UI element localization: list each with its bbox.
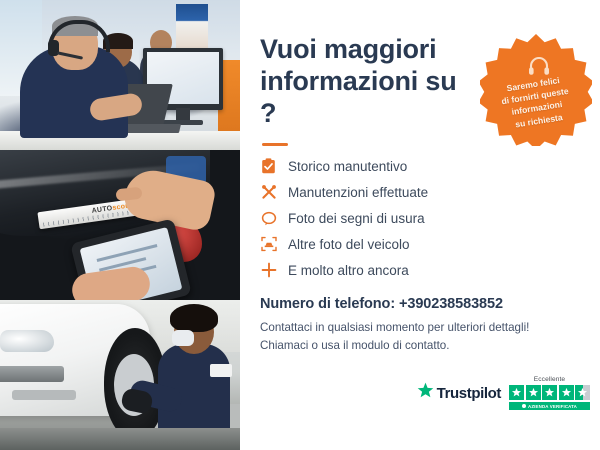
lower-bumper-vent xyxy=(12,390,76,400)
contact-line-2: Chiamaci o usa il modulo di contatto. xyxy=(260,337,578,355)
verified-company-badge: AZIENDA VERIFICATA xyxy=(509,402,590,410)
list-item-manutenzioni-effettuate: Manutenzioni effettuate xyxy=(260,184,578,201)
phone-number[interactable]: +390238583852 xyxy=(399,296,503,312)
front-grille xyxy=(0,366,64,382)
star-half-5 xyxy=(575,385,590,400)
vehicle-lift-platform xyxy=(0,428,240,450)
trustpilot-star-icon xyxy=(417,382,434,404)
star-rating xyxy=(509,385,590,400)
phone-label: Numero di telefono: xyxy=(260,296,395,312)
verified-check-icon xyxy=(522,404,526,408)
support-promise-badge: Saremo felici di fornirti queste informa… xyxy=(480,34,592,146)
contact-instructions: Contattaci in qualsiasi momento per ulte… xyxy=(260,319,578,355)
list-item-altre-foto-veicolo: Altre foto del veicolo xyxy=(260,236,578,253)
phone-number-line: Numero di telefono: +390238583852 xyxy=(260,296,578,312)
mechanic-hair xyxy=(170,304,218,332)
headline-line-2: informazioni su ? xyxy=(260,66,457,128)
list-item-storico-manutentivo: Storico manutentivo xyxy=(260,158,578,175)
list-item-label: Manutenzioni effettuate xyxy=(288,185,428,200)
trustpilot-wordmark: Trustpilot xyxy=(437,385,501,402)
list-item-label: Storico manutentivo xyxy=(288,159,407,174)
page-title: Vuoi maggiori informazioni su ? xyxy=(260,34,475,130)
feature-list: Storico manutentivo Manutenzioni effettu… xyxy=(260,158,578,279)
clipboard-check-icon xyxy=(260,158,277,175)
verified-label: AZIENDA VERIFICATA xyxy=(528,404,577,409)
star-filled-2 xyxy=(526,385,541,400)
trustpilot-logo: Trustpilot xyxy=(417,382,501,404)
photo-call-center-agents-with-headsets xyxy=(0,0,240,150)
tablet-text-line xyxy=(97,244,158,262)
face-mask xyxy=(172,330,194,346)
tools-cross-icon xyxy=(260,184,277,201)
list-item-label: E molto altro ancora xyxy=(288,263,409,278)
chat-bubble-icon xyxy=(260,210,277,227)
plus-icon xyxy=(260,262,277,279)
title-underline-divider xyxy=(262,143,288,146)
uniform-logo-patch xyxy=(210,364,232,377)
photo-column: AUTOscout xyxy=(0,0,240,450)
headlight xyxy=(0,330,54,352)
star-filled-3 xyxy=(542,385,557,400)
star-filled-1 xyxy=(509,385,524,400)
headline-line-1: Vuoi maggiori xyxy=(260,34,436,64)
wall-poster xyxy=(176,4,208,50)
promo-banner: AUTOscout xyxy=(0,0,600,450)
trustpilot-rating-widget[interactable]: Trustpilot Eccellente AZIENDA VERIFICATA xyxy=(417,376,590,410)
car-scan-frame-icon xyxy=(260,236,277,253)
photo-mechanic-inspecting-white-car-on-lift xyxy=(0,300,240,450)
rating-label: Eccellente xyxy=(534,376,565,383)
content-panel: Vuoi maggiori informazioni su ? Storico … xyxy=(240,0,600,450)
list-item-molto-altro-ancora: E molto altro ancora xyxy=(260,262,578,279)
contact-line-1: Contattaci in qualsiasi momento per ulte… xyxy=(260,319,578,337)
list-item-foto-segni-usura: Foto dei segni di usura xyxy=(260,210,578,227)
list-item-label: Foto dei segni di usura xyxy=(288,211,425,226)
trustpilot-score-block: Eccellente AZIENDA VERIFICATA xyxy=(509,376,590,410)
photo-paint-thickness-gauge-on-dark-car: AUTOscout xyxy=(0,150,240,300)
star-filled-4 xyxy=(559,385,574,400)
list-item-label: Altre foto del veicolo xyxy=(288,237,410,252)
